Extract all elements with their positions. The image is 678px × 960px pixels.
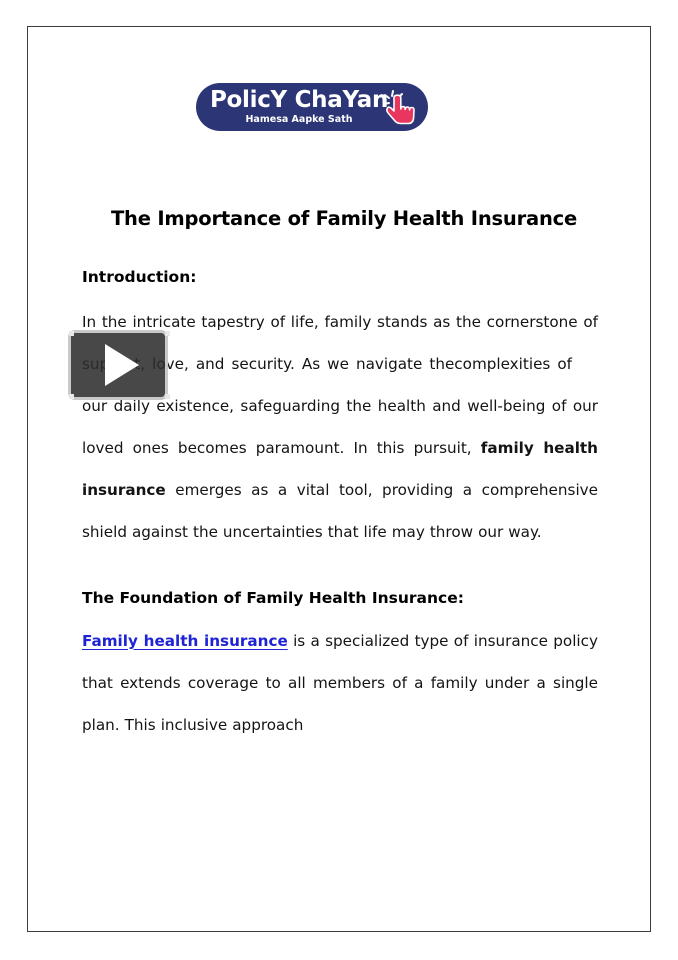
play-button-overlay[interactable] xyxy=(68,330,168,400)
logo-tagline: Hamesa Aapke Sath xyxy=(245,115,352,125)
page-title: The Importance of Family Health Insuranc… xyxy=(82,206,598,232)
play-icon xyxy=(105,344,139,386)
document-content: The Importance of Family Health Insuranc… xyxy=(82,206,598,746)
logo-text-column: PolicY ChaYan Hamesa Aapke Sath xyxy=(210,89,388,125)
document-page-canvas: PolicY ChaYan Hamesa Aapke Sath The Impo… xyxy=(0,0,678,960)
logo-pill: PolicY ChaYan Hamesa Aapke Sath xyxy=(196,83,428,131)
section-heading-foundation: The Foundation of Family Health Insuranc… xyxy=(82,588,598,608)
foundation-paragraph: Family health insurance is a specialized… xyxy=(82,620,598,746)
hand-pointer-click-icon xyxy=(380,87,422,127)
brand-logo: PolicY ChaYan Hamesa Aapke Sath xyxy=(196,83,428,131)
logo-brand-text: PolicY ChaYan xyxy=(210,89,388,112)
family-health-insurance-link[interactable]: Family health insurance xyxy=(82,632,288,650)
section-heading-introduction: Introduction: xyxy=(82,267,598,287)
